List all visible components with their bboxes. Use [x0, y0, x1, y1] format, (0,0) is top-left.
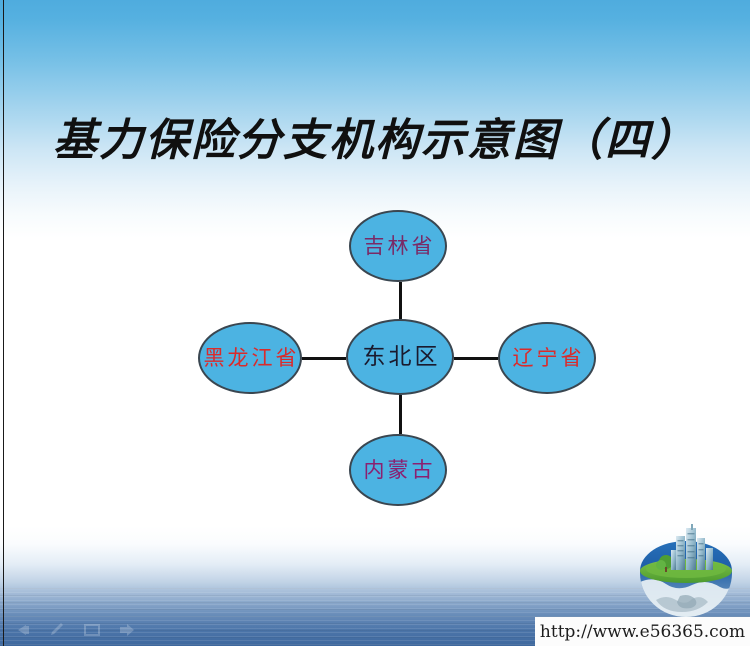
connector-center-to-right: [454, 357, 498, 360]
diagram-node-jilin[interactable]: 吉林省: [349, 210, 447, 282]
diagram-node-jilin-label: 吉林省: [361, 236, 436, 257]
diagram-node-dongbei-region-label: 东北区: [360, 346, 441, 369]
watermark-plate: http://www.e56365.com: [535, 617, 750, 646]
page-title: 基力保险分支机构示意图（四）: [0, 104, 750, 168]
next-slide-icon[interactable]: [116, 622, 136, 638]
diagram-node-heilongjiang-label: 黑龙江省: [201, 348, 300, 369]
previous-slide-icon[interactable]: [14, 622, 34, 638]
diagram-node-neimenggu[interactable]: 内蒙古: [349, 434, 447, 506]
globe-city-icon: [630, 524, 742, 620]
diagram-node-dongbei-region[interactable]: 东北区: [346, 319, 454, 395]
slide-left-border: [3, 0, 4, 646]
diagram-node-liaoning[interactable]: 辽宁省: [498, 322, 596, 394]
connector-center-to-left: [302, 357, 346, 360]
diagram-node-heilongjiang[interactable]: 黑龙江省: [198, 322, 302, 394]
diagram-node-neimenggu-label: 内蒙古: [361, 460, 436, 481]
diagram-node-liaoning-label: 辽宁省: [510, 348, 585, 369]
presentation-slide: 基力保险分支机构示意图（四） 吉林省 黑龙江省 东北区 辽宁省 内蒙古: [0, 0, 750, 646]
slideshow-nav-controls[interactable]: [14, 622, 136, 638]
watermark-url: http://www.e56365.com: [540, 622, 745, 642]
menu-icon[interactable]: [82, 622, 102, 638]
connector-center-to-bottom: [399, 395, 402, 434]
pen-icon[interactable]: [48, 622, 68, 638]
